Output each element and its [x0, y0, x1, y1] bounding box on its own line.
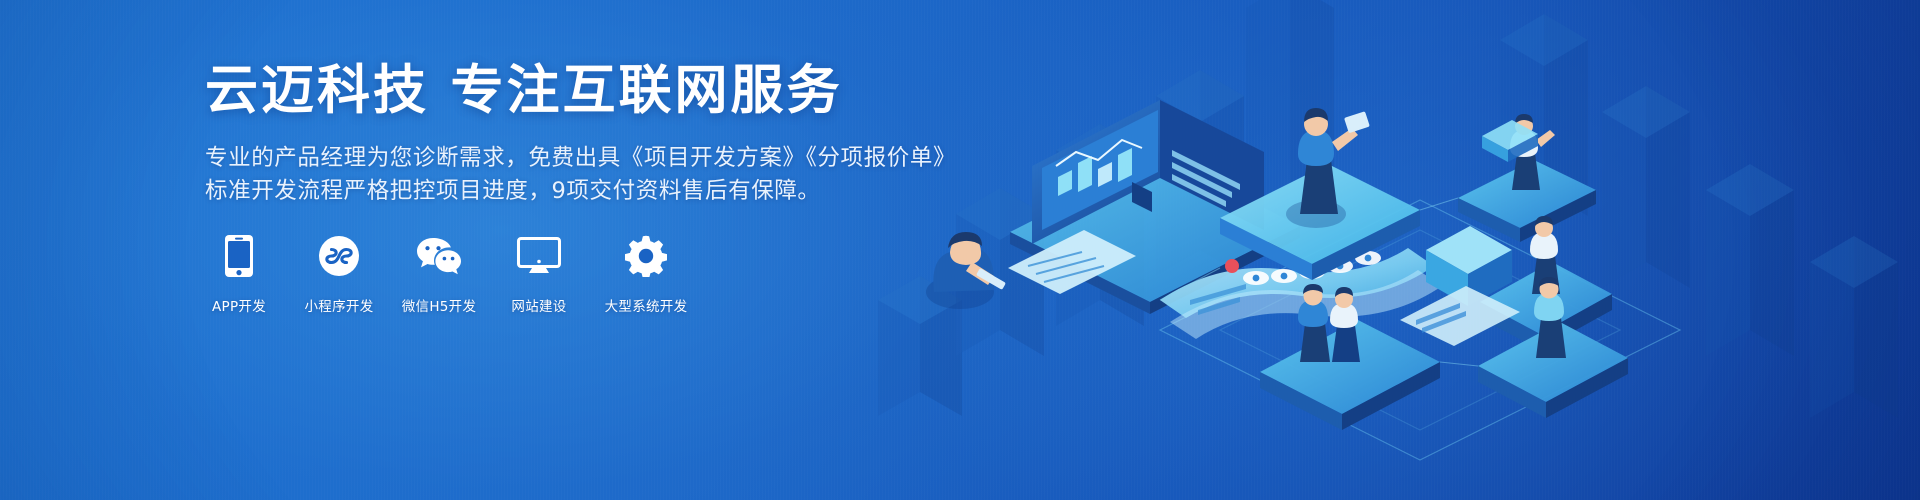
service-label-app: APP开发: [212, 295, 266, 315]
subtitle-line-1: 专业的产品经理为您诊断需求，免费出具《项目开发方案》《分项报价单》: [205, 142, 1105, 175]
subtitle-line-2: 标准开发流程严格把控项目进度，9项交付资料售后有保障。: [205, 175, 1105, 208]
service-item-mini-program[interactable]: 小程序开发: [303, 233, 375, 315]
wechat-icon: [416, 233, 462, 279]
service-item-app[interactable]: APP开发: [203, 233, 275, 315]
mini-program-icon: [316, 233, 362, 279]
mobile-phone-icon: [216, 233, 262, 279]
service-list: APP开发 小程序开发: [203, 233, 689, 315]
service-item-wechat[interactable]: 微信H5开发: [403, 233, 475, 315]
gear-icon: [623, 233, 669, 279]
monitor-icon: [516, 233, 562, 279]
service-label-wechat: 微信H5开发: [402, 295, 477, 315]
banner-copy: 云迈科技 专注互联网服务 专业的产品经理为您诊断需求，免费出具《项目开发方案》《…: [205, 62, 1105, 208]
service-label-enterprise-system: 大型系统开发: [605, 295, 688, 315]
subtitle-block: 专业的产品经理为您诊断需求，免费出具《项目开发方案》《分项报价单》 标准开发流程…: [205, 142, 1105, 208]
service-item-enterprise-system[interactable]: 大型系统开发: [603, 233, 689, 315]
service-item-website[interactable]: 网站建设: [503, 233, 575, 315]
service-label-website: 网站建设: [511, 295, 566, 315]
hero-banner: 云迈科技 专注互联网服务 专业的产品经理为您诊断需求，免费出具《项目开发方案》《…: [0, 0, 1920, 500]
service-label-mini-program: 小程序开发: [305, 295, 374, 315]
page-title: 云迈科技 专注互联网服务: [205, 62, 1105, 120]
